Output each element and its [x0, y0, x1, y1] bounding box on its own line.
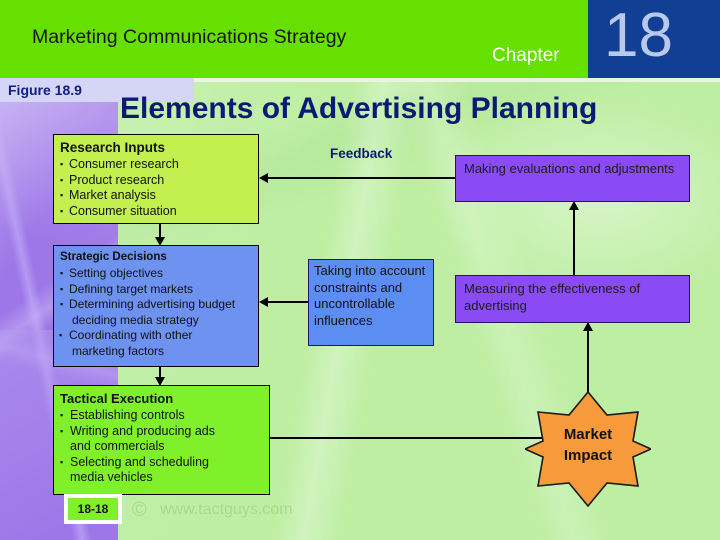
connector-tactical-to-impact	[270, 437, 545, 439]
list-item: marketing factors	[60, 344, 253, 360]
box-measuring-effectiveness[interactable]: Measuring the effectiveness of advertisi…	[455, 275, 690, 323]
list-item: Setting objectives	[60, 266, 253, 282]
market-impact-line1: Market	[525, 424, 651, 445]
box-strategic-decisions[interactable]: Strategic Decisions Setting objectives D…	[53, 245, 259, 367]
list-item: Consumer research	[60, 157, 252, 173]
list-item: Consumer situation	[60, 204, 252, 220]
list-item: Selecting and scheduling	[60, 455, 263, 471]
box-research-inputs[interactable]: Research Inputs Consumer research Produc…	[53, 134, 259, 224]
list-item: Product research	[60, 173, 252, 189]
connector-measuring-to-making	[573, 209, 575, 275]
list-item: Market analysis	[60, 188, 252, 204]
list-item: Coordinating with other	[60, 328, 253, 344]
box-making-text: Making evaluations and adjustments	[464, 161, 681, 178]
box-research-title: Research Inputs	[60, 139, 252, 156]
page-number-frame: 18-18	[64, 494, 122, 524]
slide-canvas: Marketing Communications Strategy Chapte…	[0, 0, 720, 540]
list-item: media vehicles	[60, 470, 263, 486]
box-tactical-execution[interactable]: Tactical Execution Establishing controls…	[53, 385, 270, 495]
box-strategic-title: Strategic Decisions	[60, 250, 253, 265]
list-item: Establishing controls	[60, 408, 263, 424]
connector-feedback-line	[268, 177, 456, 179]
box-tactical-list: Establishing controls Writing and produc…	[60, 408, 263, 486]
arrowhead-feedback	[259, 173, 268, 183]
arrowhead-impact-to-measuring	[583, 322, 593, 331]
arrowhead-taking-to-strategic	[259, 297, 268, 307]
box-tactical-title: Tactical Execution	[60, 390, 263, 407]
box-taking-text: Taking into account constraints and unco…	[314, 263, 428, 329]
arrowhead-measuring-to-making	[569, 201, 579, 210]
page-number: 18-18	[68, 498, 118, 520]
header-title: Marketing Communications Strategy	[32, 26, 346, 49]
box-strategic-list: Setting objectives Defining target marke…	[60, 266, 253, 360]
website-url: www.tactguys.com	[160, 501, 292, 519]
connector-impact-to-measuring	[587, 330, 589, 392]
chapter-number: 18	[604, 5, 673, 67]
copyright-icon: ©	[132, 500, 147, 520]
market-impact-line2: Impact	[525, 445, 651, 466]
list-item: Writing and producing ads	[60, 424, 263, 440]
box-making-evaluations[interactable]: Making evaluations and adjustments	[455, 155, 690, 202]
list-item: deciding media strategy	[60, 313, 253, 329]
connector-taking-to-strategic	[268, 301, 309, 303]
list-item: Determining advertising budget	[60, 297, 253, 313]
market-impact-burst[interactable]: Market Impact	[525, 390, 651, 508]
box-measuring-text: Measuring the effectiveness of advertisi…	[464, 281, 681, 314]
list-item: and commercials	[60, 439, 263, 455]
page-title: Elements of Advertising Planning	[120, 92, 597, 126]
header-band: Marketing Communications Strategy Chapte…	[0, 0, 720, 78]
list-item: Defining target markets	[60, 282, 253, 298]
market-impact-label: Market Impact	[525, 424, 651, 466]
box-taking-into-account[interactable]: Taking into account constraints and unco…	[308, 259, 434, 346]
box-research-list: Consumer research Product research Marke…	[60, 157, 252, 219]
feedback-label: Feedback	[330, 146, 392, 161]
chapter-word-label: Chapter	[492, 45, 560, 67]
